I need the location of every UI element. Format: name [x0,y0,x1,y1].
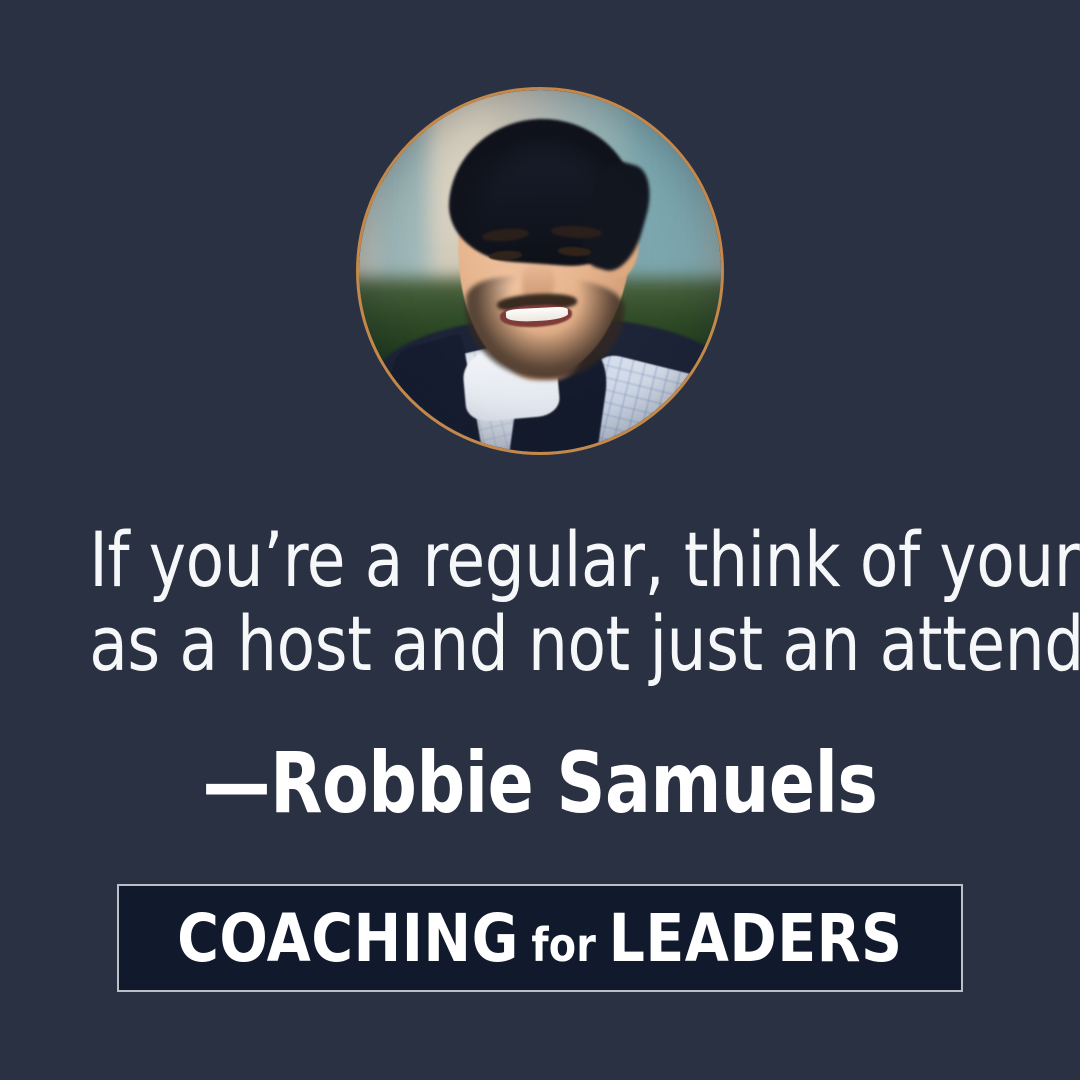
photo-background-pane-left [373,97,431,300]
brand-word-for: for [519,918,609,972]
quote-text: If you’re a regular, think of yourself a… [89,518,991,686]
quote-line-2: as a host and not just an attendee. [89,602,991,686]
brand-word-coaching: COACHING [177,900,519,977]
brand-logo: COACHING for LEADERS [117,884,963,992]
quote-line-1: If you’re a regular, think of yourself [89,518,991,602]
brand-logo-text: COACHING for LEADERS [177,900,902,977]
quote-attribution: —Robbie Samuels [99,735,981,831]
brand-word-leaders: LEADERS [609,900,903,977]
avatar [356,87,724,455]
quote-card: If you’re a regular, think of yourself a… [0,0,1080,1080]
portrait-photo [359,90,721,452]
